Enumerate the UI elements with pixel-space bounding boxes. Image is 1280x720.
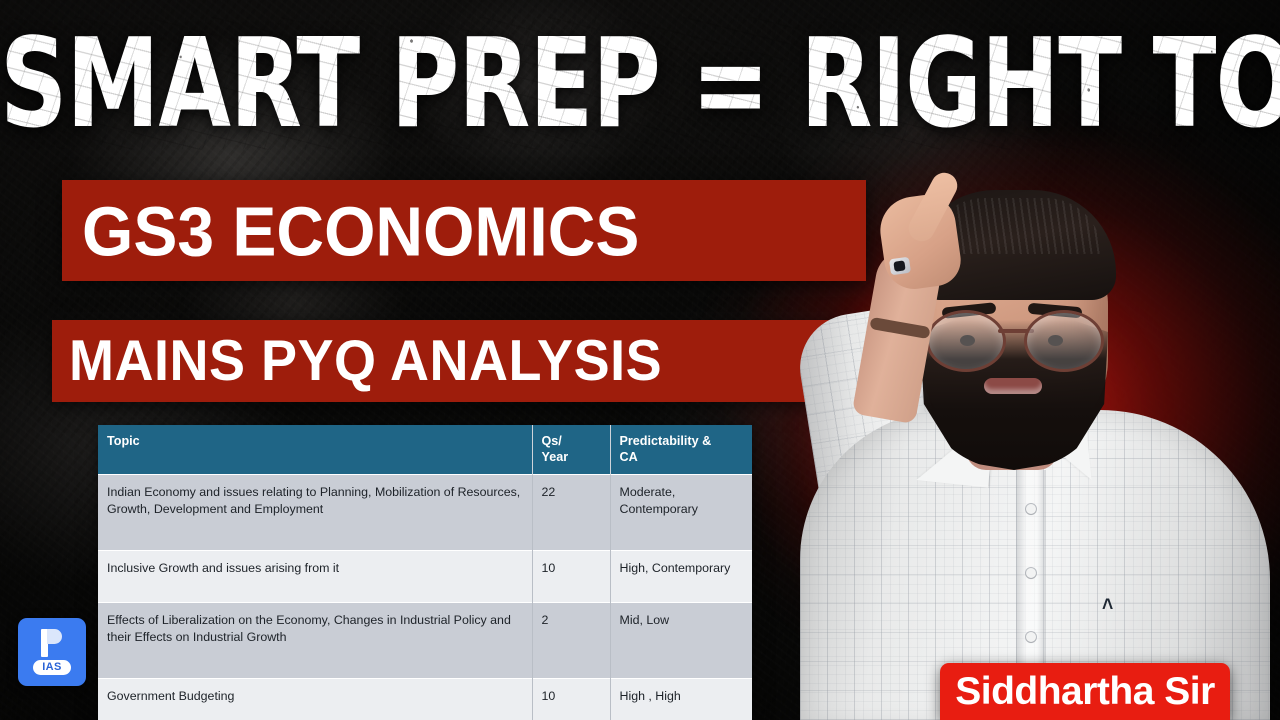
cell-topic: Indian Economy and issues relating to Pl… [98, 475, 532, 551]
pyq-analysis-table: Topic Qs/Year Predictability &CA Indian … [98, 425, 752, 720]
thumbnail-canvas: SMART PREP = RIGHT TOPICS GS3 ECONOMICS … [0, 0, 1280, 720]
cell-predictability: High , High [610, 679, 752, 720]
cell-topic: Effects of Liberalization on the Economy… [98, 603, 532, 679]
column-header-qs-per-year: Qs/Year [532, 425, 610, 475]
column-header-topic: Topic [98, 425, 532, 475]
p-mark-icon [41, 629, 63, 657]
table-row: Inclusive Growth and issues arising from… [98, 551, 752, 603]
cell-predictability: Mid, Low [610, 603, 752, 679]
table-row: Government Budgeting 10 High , High [98, 679, 752, 720]
cell-qs-per-year: 2 [532, 603, 610, 679]
table-row: Indian Economy and issues relating to Pl… [98, 475, 752, 551]
banner-secondary-label: MAINS PYQ ANALYSIS [69, 332, 662, 389]
logo-ias-label: IAS [33, 660, 71, 676]
cell-predictability: Moderate, Contemporary [610, 475, 752, 551]
headline-text: SMART PREP = RIGHT TOPICS [0, 22, 1280, 145]
headline: SMART PREP = RIGHT TOPICS [0, 22, 1280, 145]
cell-qs-per-year: 10 [532, 679, 610, 720]
cell-qs-per-year: 10 [532, 551, 610, 603]
cell-topic: Government Budgeting [98, 679, 532, 720]
presenter-name-badge: Siddhartha Sir [940, 663, 1230, 720]
table-header-row: Topic Qs/Year Predictability &CA [98, 425, 752, 475]
presenter-name-label: Siddhartha Sir [955, 672, 1215, 711]
banner-mains-pyq-analysis: MAINS PYQ ANALYSIS [52, 320, 856, 402]
cell-qs-per-year: 22 [532, 475, 610, 551]
banner-primary-label: GS3 ECONOMICS [82, 196, 639, 266]
table-row: Effects of Liberalization on the Economy… [98, 603, 752, 679]
brand-logo: IAS [18, 618, 86, 686]
cell-topic: Inclusive Growth and issues arising from… [98, 551, 532, 603]
cell-predictability: High, Contemporary [610, 551, 752, 603]
banner-gs3-economics: GS3 ECONOMICS [62, 180, 866, 281]
column-header-predictability: Predictability &CA [610, 425, 752, 475]
